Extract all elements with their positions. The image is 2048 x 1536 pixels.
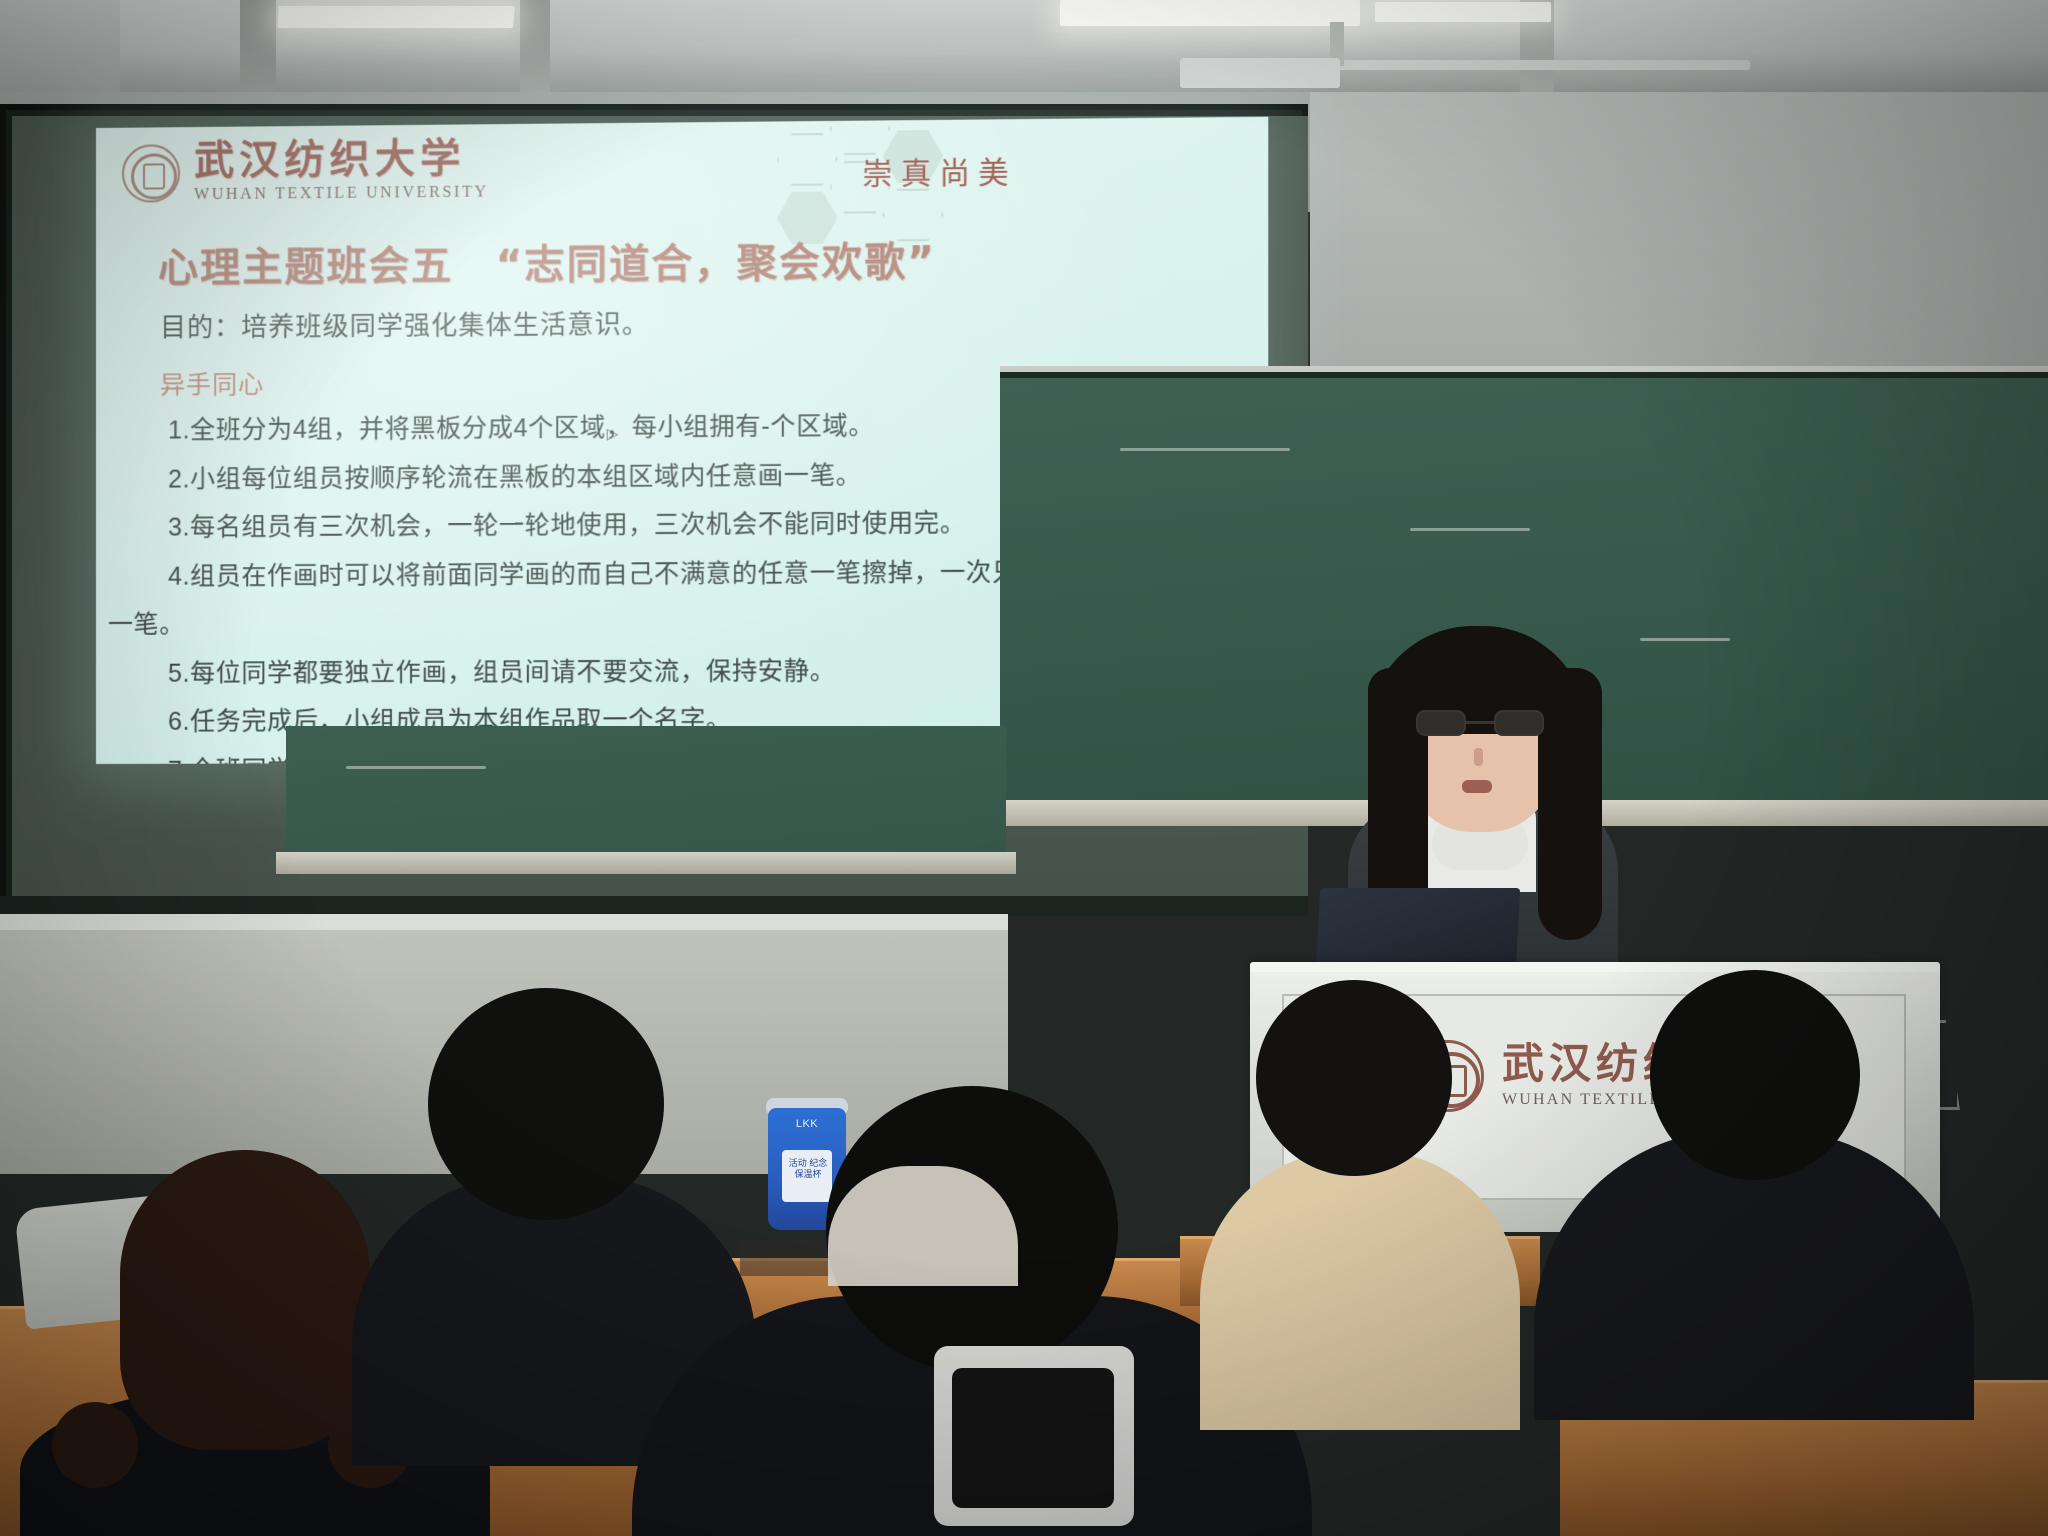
classroom-photo: 投影机 武汉纺织大学 WUHAN TEXTILE UNIVERSITY 崇真尚美… — [0, 0, 2048, 1536]
blackboard-center — [286, 726, 1006, 856]
slide-subtitle: 异手同心 — [160, 365, 264, 402]
ceiling-beam — [520, 0, 550, 92]
slide-header: 武汉纺织大学 WUHAN TEXTILE UNIVERSITY — [122, 138, 489, 204]
slide-title: 心理主题班会五 “志同道合，聚会欢歌” — [158, 229, 936, 294]
cup-label-text: 活动 纪念 保温杯 — [786, 1158, 830, 1181]
presenter-hair-right — [1538, 668, 1602, 940]
ceiling-beam — [0, 0, 120, 92]
podium-logo: 武汉纺织 WUHAN TEXTILE — [1412, 1040, 1690, 1112]
ceiling-light — [1375, 2, 1551, 22]
glasses-icon — [1414, 710, 1546, 736]
wall-highlight — [0, 914, 1008, 930]
ceiling-light — [277, 6, 515, 28]
projector-device: 投影机 — [1180, 58, 1340, 88]
ceiling-beam — [240, 0, 276, 92]
cup-brand-text: LKK — [776, 1118, 838, 1130]
ceiling-light — [1060, 0, 1360, 26]
mouse-cursor-icon: ▷ — [607, 425, 619, 441]
university-name-en: WUHAN TEXTILE UNIVERSITY — [194, 183, 489, 204]
university-seal-icon — [122, 144, 180, 203]
screen-bottom-bar — [0, 896, 1308, 916]
presenter-mouth — [1462, 780, 1492, 793]
chalk-tray — [276, 852, 1016, 874]
university-name-cn: 武汉纺织大学 — [194, 138, 489, 181]
university-motto: 崇真尚美 — [862, 147, 1017, 193]
presenter-nose — [1474, 748, 1483, 766]
slide-purpose: 目的：培养班级同学强化集体生活意识。 — [160, 304, 649, 345]
